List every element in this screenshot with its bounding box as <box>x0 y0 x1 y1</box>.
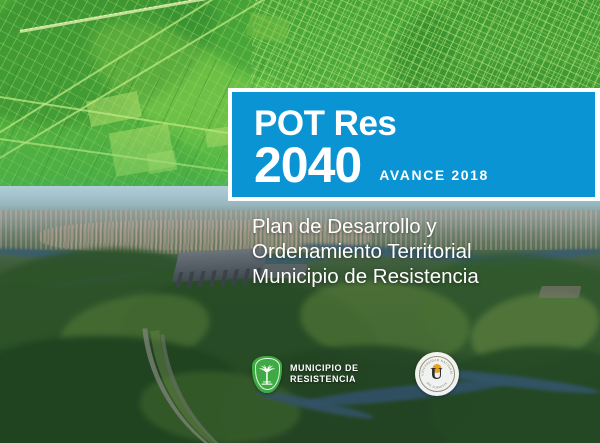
logo-row: MUNICIPIO DE RESISTENCIA UNIVERSIDAD NAC… <box>252 352 522 396</box>
seal-legend-ring: UNIVERSIDAD NACIONAL DEL NORDESTE <box>420 357 454 391</box>
seal-sun-icon <box>432 364 441 373</box>
university-seal-icon: UNIVERSIDAD NACIONAL DEL NORDESTE U <box>415 352 459 396</box>
page-title-year: 2040 <box>254 140 361 190</box>
logo-unne: UNIVERSIDAD NACIONAL DEL NORDESTE U <box>415 352 459 396</box>
svg-text:UNIVERSIDAD NACIONAL: UNIVERSIDAD NACIONAL <box>420 358 453 376</box>
title-banner: POT Res 2040 AVANCE 2018 <box>228 88 600 201</box>
title-year-row: 2040 AVANCE 2018 <box>254 140 600 190</box>
seal-monogram: U <box>415 365 459 382</box>
logo-municipio-resistencia: MUNICIPIO DE RESISTENCIA <box>252 356 359 393</box>
cover-page: POT Res 2040 AVANCE 2018 Plan de Desarro… <box>0 0 600 443</box>
page-subtitle: Plan de Desarrollo y Ordenamiento Territ… <box>252 214 582 289</box>
shield-palm-icon <box>252 356 282 393</box>
title-banner-right-margin <box>595 88 600 201</box>
logo-municipio-label: MUNICIPIO DE RESISTENCIA <box>290 363 359 385</box>
svg-text:DEL NORDESTE: DEL NORDESTE <box>425 382 447 390</box>
status-badge: AVANCE 2018 <box>379 168 489 182</box>
